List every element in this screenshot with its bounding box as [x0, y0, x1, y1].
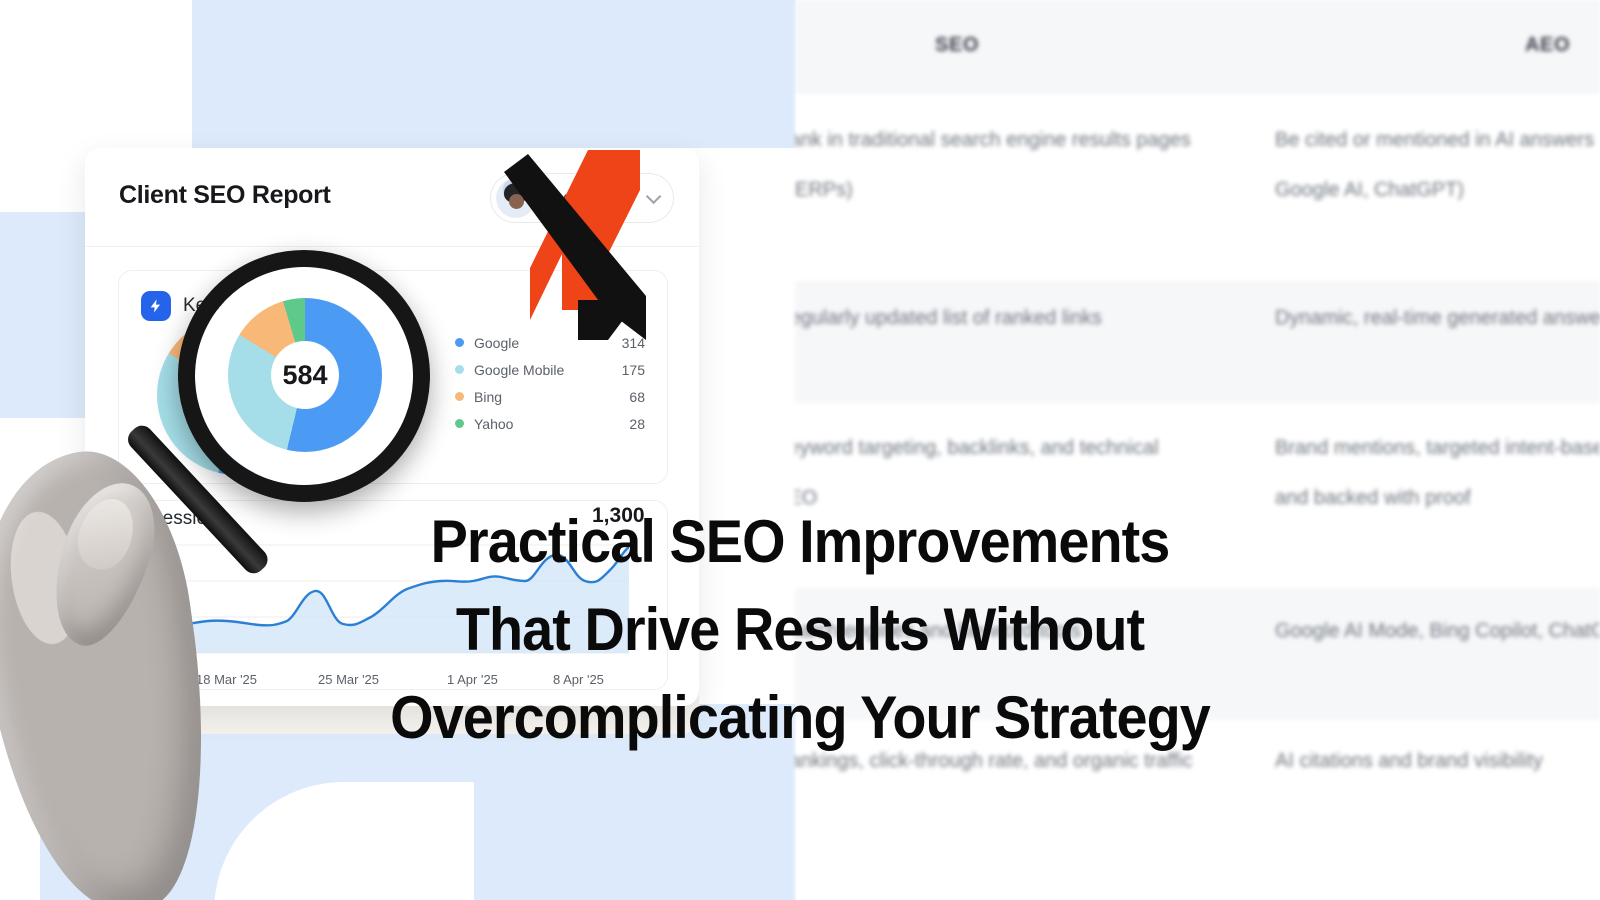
legend-label: Yahoo [474, 416, 629, 432]
legend-value: 68 [629, 389, 645, 405]
legend-label: Google Mobile [474, 362, 622, 378]
donut-legend: Google 314 Google Mobile 175 Bing 68 Yah… [455, 329, 645, 437]
orange-black-arrow-logo [500, 150, 650, 340]
legend-item: Google Mobile 175 [455, 356, 645, 383]
cell-seo: Rank in traditional search engine result… [795, 115, 1205, 215]
page-title: Client SEO Report [119, 181, 331, 210]
background-shape-left [0, 208, 88, 418]
legend-item: Yahoo 28 [455, 410, 645, 437]
cell-aeo: Dynamic, real-time generated answers [1275, 293, 1600, 343]
legend-label: Bing [474, 389, 629, 405]
headline: Practical SEO Improvements That Drive Re… [56, 498, 1544, 762]
table-header-row: SEO AEO [795, 0, 1600, 93]
table-row: Regularly updated list of ranked links D… [795, 281, 1600, 403]
legend-color-dot [455, 419, 464, 428]
cell-seo: Regularly updated list of ranked links [795, 293, 1205, 343]
cell-aeo: Be cited or mentioned in AI answers (e.g… [1275, 115, 1600, 215]
headline-line-3: Overcomplicating Your Strategy [56, 674, 1544, 762]
legend-value: 28 [629, 416, 645, 432]
magnifier-ring [178, 250, 430, 502]
poster-canvas: SEO AEO Rank in traditional search engin… [0, 0, 1600, 900]
column-header-seo: SEO [935, 34, 979, 57]
comparison-table: SEO AEO Rank in traditional search engin… [795, 0, 1600, 900]
headline-line-1: Practical SEO Improvements [56, 498, 1544, 586]
column-header-aeo: AEO [1525, 34, 1570, 57]
background-shape-top [192, 0, 796, 148]
legend-color-dot [455, 365, 464, 374]
headline-line-2: That Drive Results Without [56, 586, 1544, 674]
legend-color-dot [455, 392, 464, 401]
legend-item: Bing 68 [455, 383, 645, 410]
table-row: Rank in traditional search engine result… [795, 93, 1600, 281]
legend-value: 175 [622, 362, 645, 378]
legend-color-dot [455, 338, 464, 347]
